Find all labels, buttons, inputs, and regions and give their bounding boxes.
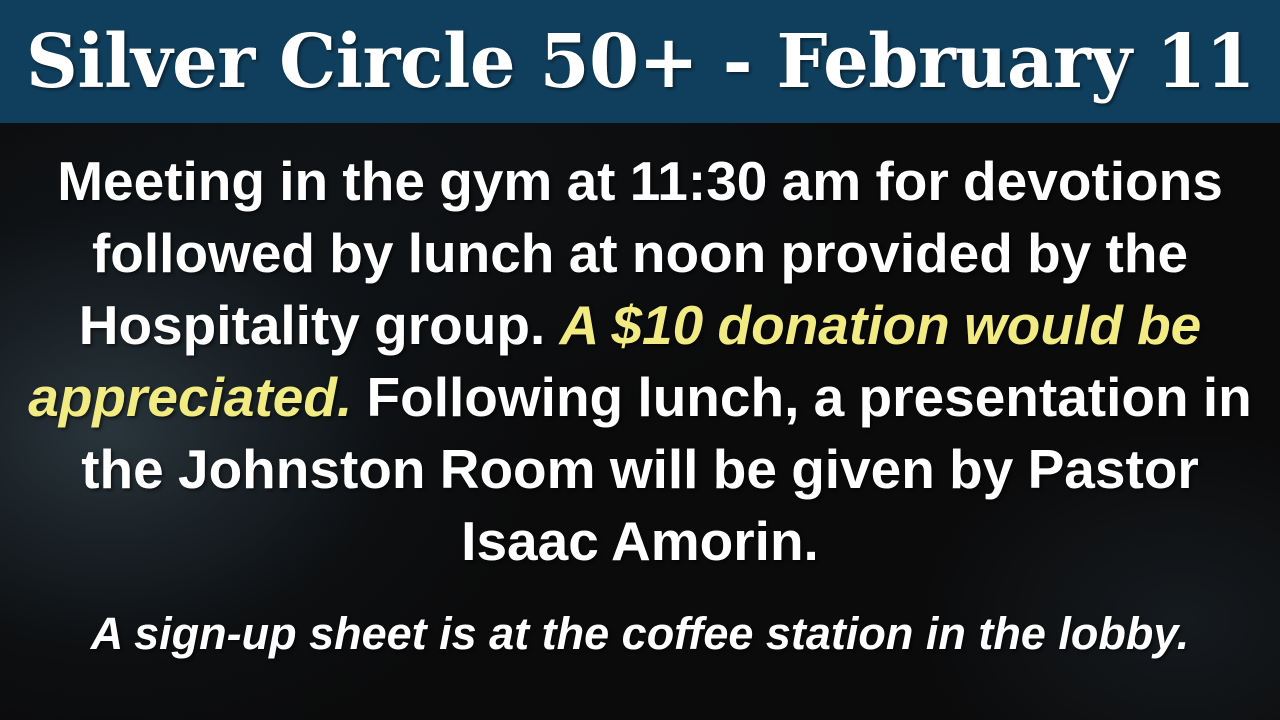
slide-title: Silver Circle 50+ - February 11: [26, 25, 1255, 99]
signup-footnote: A sign-up sheet is at the coffee station…: [15, 607, 1265, 661]
announcement-paragraph: Meeting in the gym at 11:30 am for devot…: [18, 145, 1262, 577]
slide-body: Meeting in the gym at 11:30 am for devot…: [0, 123, 1280, 720]
header-band: Silver Circle 50+ - February 11: [0, 0, 1280, 123]
announcement-slide: Silver Circle 50+ - February 11 Meeting …: [0, 0, 1280, 720]
